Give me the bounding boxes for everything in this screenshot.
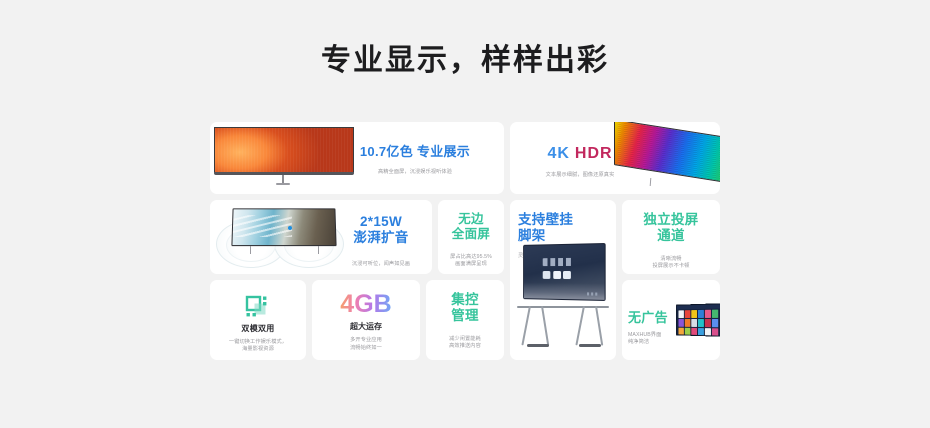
card-cast-channel-heading-line1: 独立投屏: [622, 212, 720, 228]
tv-stand: [650, 178, 652, 186]
card-ram-subtitle: 多开专业应用 流畅始终如一: [312, 337, 420, 352]
card-audio[interactable]: 2*15W 澎湃扩音 沉浸可听位，闻声如见画: [210, 200, 432, 274]
stand-leg-4: [595, 306, 603, 346]
card-cast-channel-text: 独立投屏 通道 清晰流畅 投屏展示不卡顿: [622, 212, 720, 271]
label-4k: 4K: [547, 145, 569, 162]
card-wall-mount-heading-line1: 支持壁挂: [518, 212, 610, 228]
tv-leg-right: [318, 246, 319, 254]
card-dual-mode-subtitle: 一键切换工作娱乐模式， 海量影视资源: [210, 339, 306, 354]
card-audio-heading-line2: 澎湃扩音: [338, 230, 424, 246]
card-bezel-less[interactable]: 无边 全面屏 屏占比高达95.5% 画面满屏呈现: [438, 200, 504, 274]
card-ram-capacity: 4GB: [340, 290, 391, 319]
card-central-management-heading-line1: 集控: [426, 292, 504, 308]
card-ram-text: 4GB 超大运存 多开专业应用 流畅始终如一: [312, 290, 420, 352]
tv-screen: [614, 122, 720, 183]
card-bezel-less-heading-line2: 全面屏: [438, 227, 504, 242]
card-audio-heading: 2*15W 澎湃扩音: [338, 214, 424, 247]
card-bezel-less-heading-line1: 无边: [438, 212, 504, 227]
tv-screen: [231, 208, 336, 246]
card-cast-channel-heading-line2: 通道: [622, 228, 720, 244]
tv-leg-left: [250, 246, 251, 254]
card-dual-mode-text: 双模双用 一键切换工作娱乐模式， 海量影视资源: [210, 324, 306, 354]
tv-orange-panel-image: [214, 127, 354, 181]
screen-highlight-dot: [288, 226, 292, 230]
card-central-management-heading-line2: 管理: [426, 308, 504, 324]
stand-foot-right: [579, 344, 601, 347]
card-4k-hdr[interactable]: 4KHDR 文本展示细腻，图像还原真实: [510, 122, 720, 194]
card-ram[interactable]: 4GB 超大运存 多开专业应用 流畅始终如一: [312, 280, 420, 360]
card-ram-heading: 超大运存: [312, 321, 420, 332]
card-cast-channel-heading: 独立投屏 通道: [622, 212, 720, 245]
whiteboard-controls: [587, 292, 599, 295]
whiteboard-app-tiles: [543, 271, 571, 279]
label-hdr: HDR: [575, 145, 613, 162]
card-cast-channel-subtitle: 清晰流畅 投屏展示不卡顿: [622, 256, 720, 271]
card-color-gamut-subtitle: 高精全面屏，沉浸娱乐视听体验: [340, 169, 490, 177]
card-no-ads-subtitle: MAXHUB界面 纯净简洁: [628, 332, 680, 347]
tv-screen: [676, 303, 720, 337]
card-audio-heading-line1: 2*15W: [338, 214, 424, 230]
card-central-management-heading: 集控 管理: [426, 292, 504, 325]
card-cast-channel[interactable]: 独立投屏 通道 清晰流畅 投屏展示不卡顿: [622, 200, 720, 274]
stand-foot-left: [527, 344, 549, 347]
tv-app-grid-image: [674, 304, 720, 340]
feature-grid-page: 专业显示，样样出彩 10.7亿色 专业展示 高精全面屏，沉浸娱乐视听体验 4KH…: [0, 0, 930, 428]
card-bezel-less-subtitle: 屏占比高达95.5% 画面满屏呈现: [438, 254, 504, 269]
whiteboard-panel: [523, 243, 606, 301]
card-bezel-less-text: 无边 全面屏 屏占比高达95.5% 画面满屏呈现: [438, 212, 504, 269]
page-title: 专业显示，样样出彩: [0, 40, 930, 82]
card-dual-mode[interactable]: 双模双用 一键切换工作娱乐模式， 海量影视资源: [210, 280, 306, 360]
card-central-management-subtitle: 减少闲置能耗 高效推送内容: [426, 336, 504, 351]
card-wall-mount-heading: 支持壁挂 脚架: [518, 212, 610, 245]
tv-foot: [276, 183, 290, 185]
whiteboard-on-stand-image: [515, 244, 611, 352]
tv-bottom-bar: [214, 172, 354, 175]
card-bezel-less-heading: 无边 全面屏: [438, 212, 504, 243]
stand-leg-3: [575, 306, 585, 346]
card-audio-subtitle: 沉浸可听位，闻声如见画: [338, 261, 424, 269]
card-color-gamut[interactable]: 10.7亿色 专业展示 高精全面屏，沉浸娱乐视听体验: [210, 122, 504, 194]
wave-texture: [233, 215, 293, 237]
tv-colorful-hdr-image: [614, 128, 720, 184]
card-central-management-text: 集控 管理 减少闲置能耗 高效推送内容: [426, 292, 504, 351]
card-color-gamut-text: 10.7亿色 专业展示 高精全面屏，沉浸娱乐视听体验: [340, 144, 490, 176]
whiteboard-wallpaper: [524, 283, 605, 300]
feature-card-grid: 10.7亿色 专业展示 高精全面屏，沉浸娱乐视听体验 4KHDR 文本展示细腻，…: [210, 122, 720, 370]
card-audio-text: 2*15W 澎湃扩音 沉浸可听位，闻声如见画: [338, 214, 424, 268]
whiteboard-clock: [543, 258, 572, 266]
ui-app-tiles: [678, 310, 718, 337]
stand-leg-1: [521, 306, 531, 346]
dual-mode-icon: [244, 294, 272, 320]
card-no-ads[interactable]: 无广告 MAXHUB界面 纯净简洁: [622, 280, 720, 360]
card-no-ads-text: 无广告 MAXHUB界面 纯净简洁: [628, 310, 680, 347]
stand-leg-2: [541, 306, 549, 346]
card-dual-mode-heading: 双模双用: [210, 324, 306, 334]
card-wall-mount[interactable]: 支持壁挂 脚架 灵活展示，所到皆为焦点: [510, 200, 616, 360]
card-color-gamut-heading: 10.7亿色 专业展示: [340, 144, 490, 160]
tv-screen: [214, 127, 354, 172]
card-no-ads-heading: 无广告: [628, 310, 680, 326]
card-central-management[interactable]: 集控 管理 减少闲置能耗 高效推送内容: [426, 280, 504, 360]
